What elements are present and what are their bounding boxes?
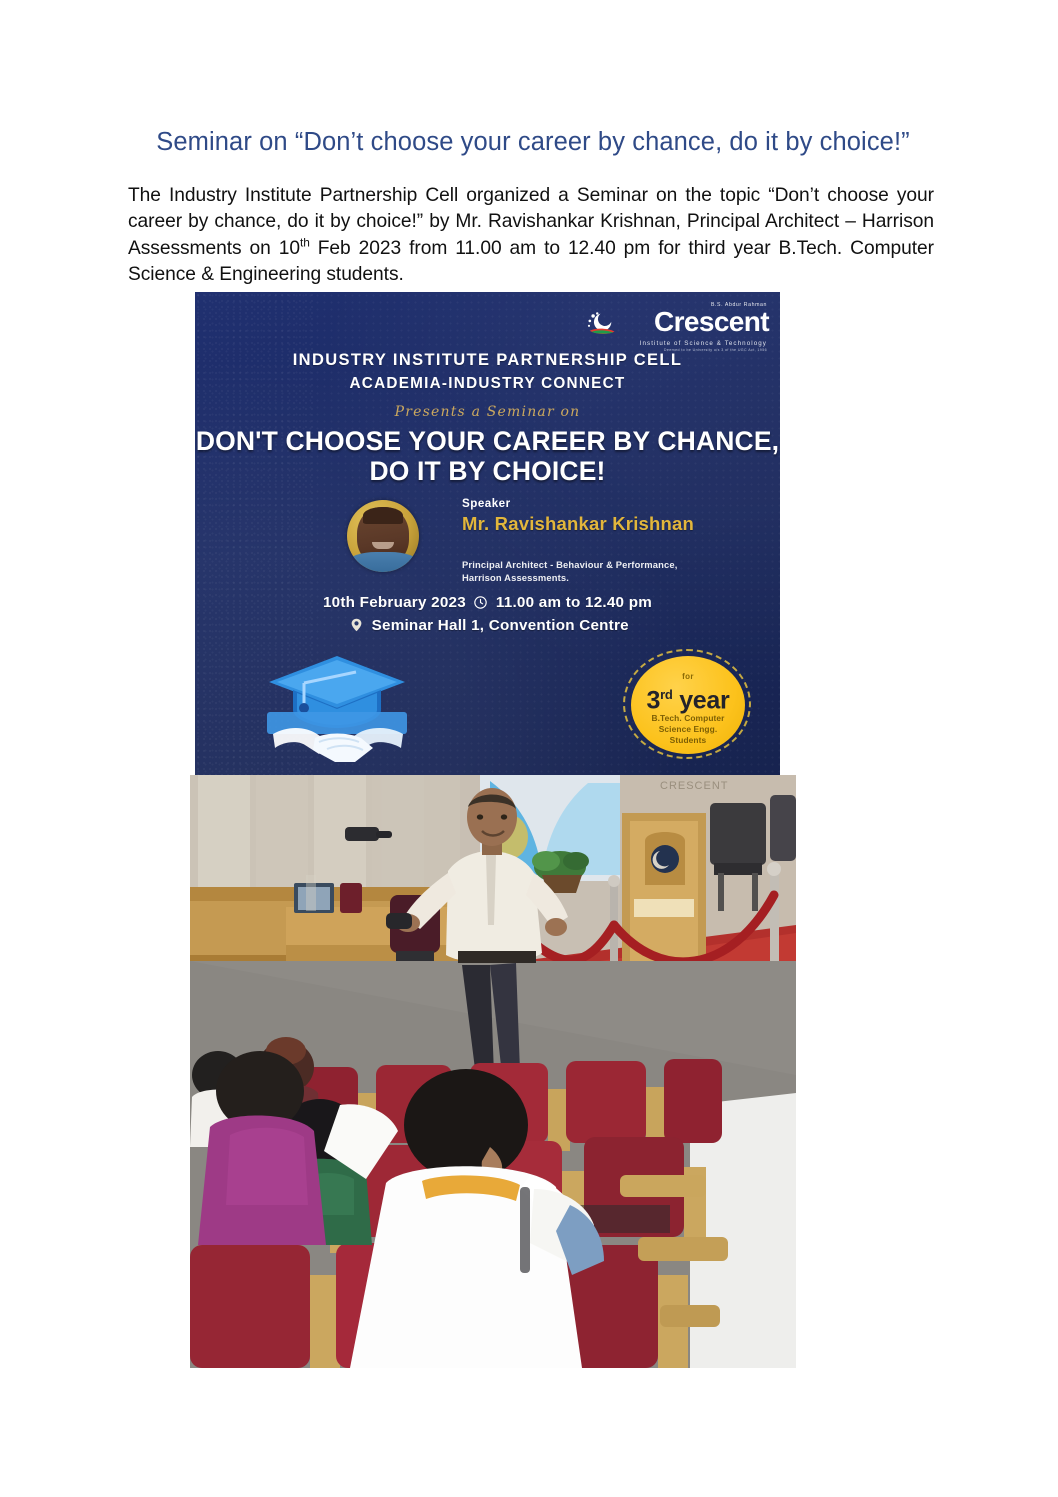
target-audience-badge: for 3rd year B.Tech. Computer Science En… bbox=[622, 649, 754, 761]
poster-venue-row: Seminar Hall 1, Convention Centre bbox=[195, 617, 780, 634]
logo-wordmark-row: Crescent bbox=[584, 309, 769, 339]
badge-audience-line-3: Students bbox=[636, 735, 740, 746]
crescent-institute-logo: B.S. Abdur Rahman Crescent Institute of … bbox=[584, 302, 769, 354]
poster-date-time-row: 10th February 2023 11.00 am to 12.40 pm bbox=[195, 594, 780, 611]
auditorium-scene: CRESCENT bbox=[190, 775, 796, 1368]
poster-main-title-line1: DON'T CHOOSE YOUR CAREER BY CHANCE, bbox=[195, 426, 780, 457]
speaker-shirt bbox=[349, 552, 417, 572]
badge-year-word: year bbox=[679, 686, 729, 714]
body-paragraph: The Industry Institute Partnership Cell … bbox=[128, 183, 934, 289]
poster-venue: Seminar Hall 1, Convention Centre bbox=[372, 617, 629, 634]
svg-text:CRESCENT: CRESCENT bbox=[660, 780, 729, 792]
location-pin-icon bbox=[350, 618, 363, 632]
speaker-designation: Principal Architect - Behaviour & Perfor… bbox=[462, 559, 712, 584]
speaker-portrait bbox=[347, 500, 419, 572]
speaker-label: Speaker bbox=[462, 497, 511, 510]
body-superscript-th: th bbox=[300, 235, 310, 249]
event-poster-image: B.S. Abdur Rahman Crescent Institute of … bbox=[195, 292, 780, 776]
seminar-photograph: Speaker addressing students seated in th… bbox=[190, 775, 796, 1368]
badge-year-number: 3 bbox=[647, 686, 661, 714]
logo-wordmark: Crescent bbox=[654, 307, 769, 337]
badge-audience-line-1: B.Tech. Computer bbox=[636, 713, 740, 724]
document-page: Seminar on “Don’t choose your career by … bbox=[0, 0, 1058, 1497]
clock-icon bbox=[474, 596, 487, 609]
poster-time: 11.00 am to 12.40 pm bbox=[496, 594, 652, 611]
badge-audience: B.Tech. Computer Science Engg. Students bbox=[636, 713, 740, 746]
poster-presents-script: Presents a Seminar on bbox=[195, 404, 780, 420]
page-title: Seminar on “Don’t choose your career by … bbox=[128, 126, 938, 158]
badge-year-label: 3rd year bbox=[622, 681, 754, 714]
poster-date: 10th February 2023 bbox=[323, 594, 466, 611]
badge-audience-line-2: Science Engg. bbox=[636, 724, 740, 735]
crescent-moon-icon bbox=[586, 311, 620, 339]
speaker-smile bbox=[372, 542, 394, 549]
badge-year-suffix: rd bbox=[660, 687, 672, 702]
logo-sub-line: Institute of Science & Technology bbox=[584, 340, 767, 348]
speaker-hair bbox=[363, 507, 403, 524]
poster-main-title-line2: DO IT BY CHOICE! bbox=[195, 456, 780, 487]
speaker-name: Mr. Ravishankar Krishnan bbox=[462, 513, 712, 535]
poster-heading-academia-industry: ACADEMIA-INDUSTRY CONNECT bbox=[195, 375, 780, 393]
poster-heading-iipc: INDUSTRY INSTITUTE PARTNERSHIP CELL bbox=[195, 351, 780, 370]
graduation-cap-handshake-icon bbox=[257, 650, 417, 768]
badge-for-label: for bbox=[622, 672, 754, 681]
